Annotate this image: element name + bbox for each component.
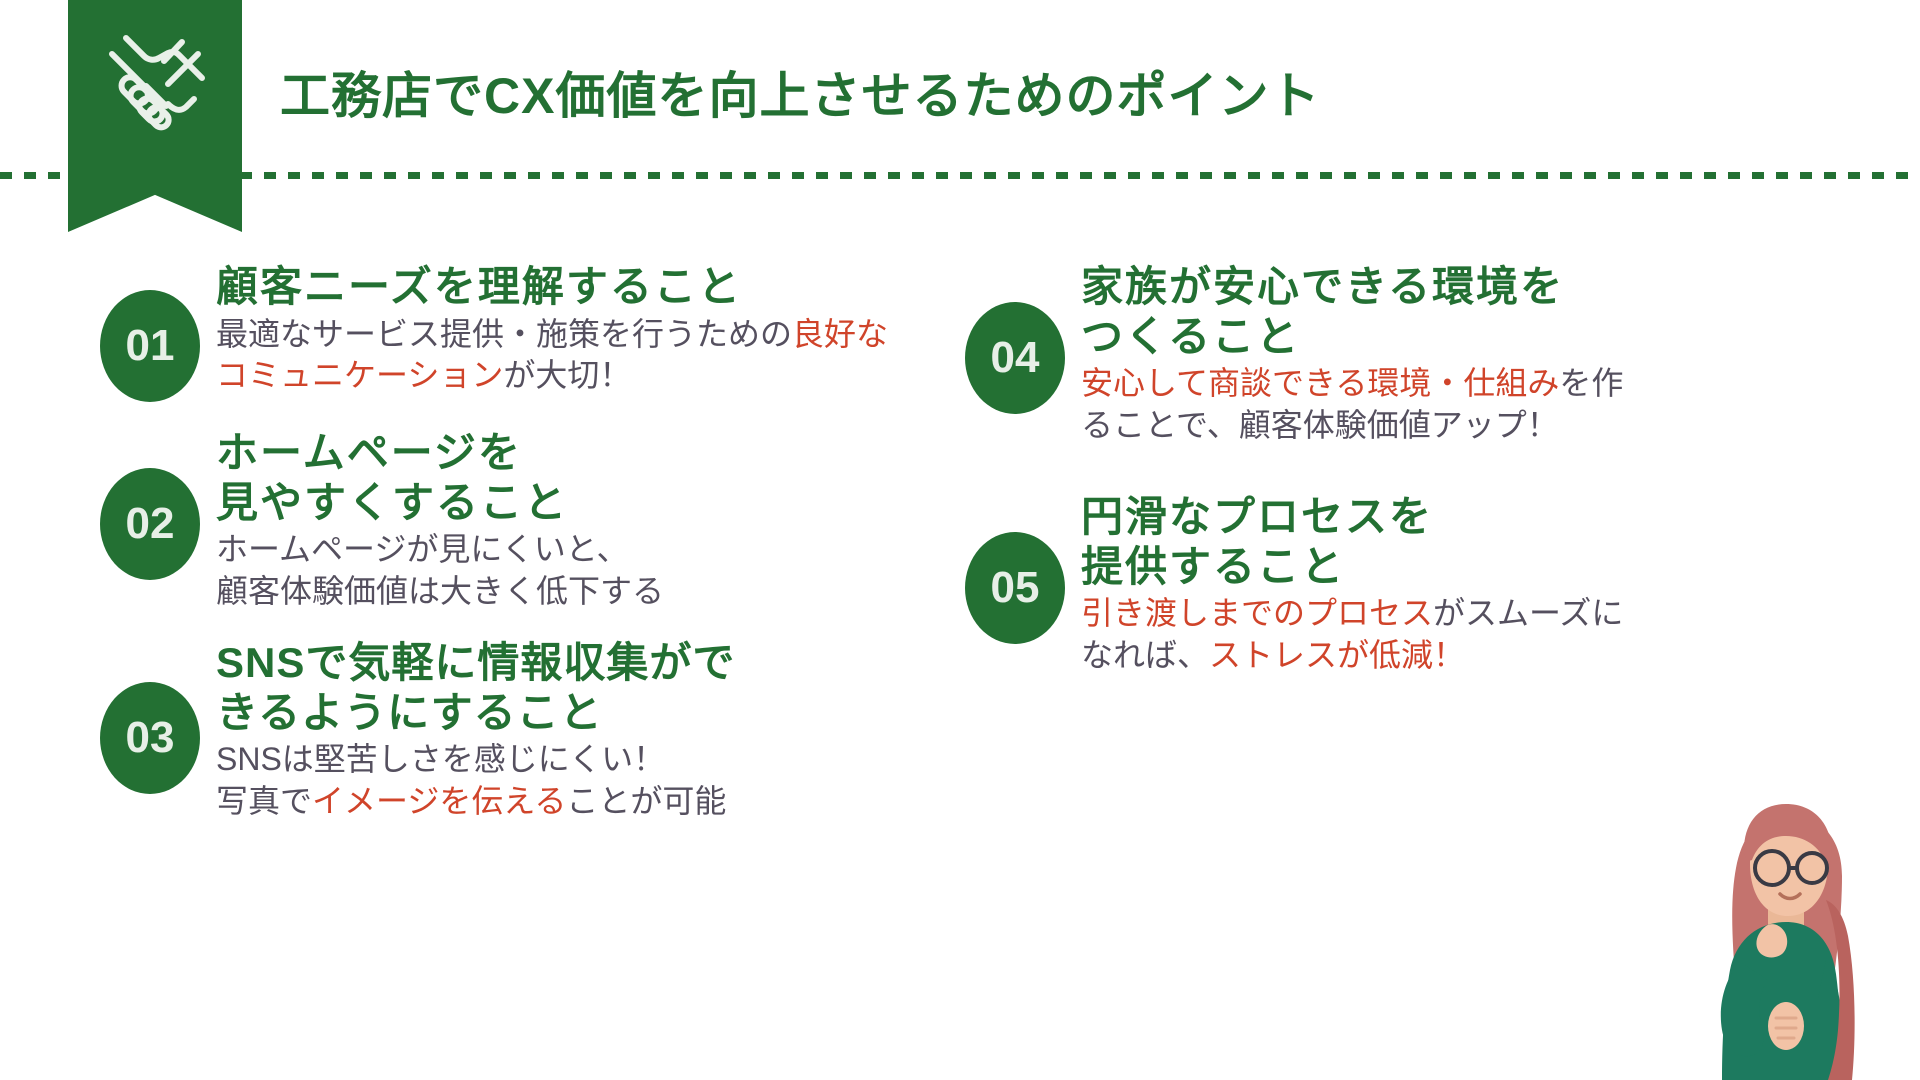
item-description: 安心して商談できる環境・仕組みを作ることで、顧客体験価値アップ！ [1081,363,1745,446]
item-description: 引き渡しまでのプロセスがスムーズになれば、ストレスが低減！ [1081,593,1745,676]
list-item[interactable]: 02 ホームページを 見やすくすること ホームページが見にくいと、顧客体験価値は… [100,428,920,612]
dotted-divider-rule [0,172,1920,179]
item-content: 円滑なプロセスを 提供すること 引き渡しまでのプロセスがスムーズになれば、ストレ… [1081,492,1745,676]
thinking-woman-illustration [1590,780,1880,1080]
list-item[interactable]: 05 円滑なプロセスを 提供すること 引き渡しまでのプロセスがスムーズになれば、… [965,492,1745,676]
plain-text: ホームページが見にくいと、 [216,531,628,567]
item-content: SNSで気軽に情報収集がで きるようにすること SNSは堅苦しさを感じにくい！写… [216,638,920,822]
item-number-badge-01: 01 [100,290,200,402]
item-number-badge-05: 05 [965,532,1065,644]
item-number-badge-03: 03 [100,682,200,794]
item-heading: 家族が安心できる環境を つくること [1081,262,1745,361]
item-heading: SNSで気軽に情報収集がで きるようにすること [216,638,920,737]
item-number-badge-02: 02 [100,468,200,580]
highlight-text: ストレスが低減！ [1209,637,1465,673]
plain-text: ことが可能 [566,783,726,819]
list-item[interactable]: 03 SNSで気軽に情報収集がで きるようにすること SNSは堅苦しさを感じにく… [100,638,920,822]
list-item[interactable]: 01 顧客ニーズを理解すること 最適なサービス提供・施策を行うための良好なコミュ… [100,262,920,402]
item-description: 最適なサービス提供・施策を行うための良好なコミュニケーションが大切！ [216,314,920,397]
item-heading: 円滑なプロセスを 提供すること [1081,492,1745,591]
header-ribbon [68,0,242,232]
plain-text: なれば、 [1081,637,1209,673]
highlight-text: 引き渡しまでのプロセス [1081,595,1433,631]
plain-text: を作 [1559,365,1623,401]
item-content: ホームページを 見やすくすること ホームページが見にくいと、顧客体験価値は大きく… [216,428,920,612]
item-description: ホームページが見にくいと、顧客体験価値は大きく低下する [216,529,920,612]
item-content: 顧客ニーズを理解すること 最適なサービス提供・施策を行うための良好なコミュニケー… [216,262,920,397]
highlight-text: イメージを伝える [312,783,566,819]
plain-text: 最適なサービス提供・施策を行うため [216,316,760,352]
plain-text: がスムーズに [1433,595,1623,631]
left-column: 01 顧客ニーズを理解すること 最適なサービス提供・施策を行うための良好なコミュ… [100,262,920,823]
highlight-text: 安心して商談できる環境・仕組み [1081,365,1559,401]
plain-text: 顧客体験価値は大きく低下する [216,573,664,609]
item-description: SNSは堅苦しさを感じにくい！写真でイメージを伝えることが可能 [216,739,920,822]
item-content: 家族が安心できる環境を つくること 安心して商談できる環境・仕組みを作ることで、… [1081,262,1745,446]
plain-text: SNSは堅苦しさを感じにくい！ [216,741,665,777]
plain-text: が大切！ [503,357,631,393]
list-item[interactable]: 04 家族が安心できる環境を つくること 安心して商談できる環境・仕組みを作るこ… [965,262,1745,446]
item-number-badge-04: 04 [965,302,1065,414]
plain-text: ることで、顧客体験価値アップ！ [1081,407,1559,443]
page-title: 工務店でCX価値を向上させるためのポイント [280,56,1320,128]
right-column: 04 家族が安心できる環境を つくること 安心して商談できる環境・仕組みを作るこ… [965,262,1745,677]
item-heading: ホームページを 見やすくすること [216,428,920,527]
plain-text: の [760,316,792,352]
item-heading: 顧客ニーズを理解すること [216,262,920,312]
handshake-icon [90,20,220,136]
plain-text: 写真で [216,783,312,819]
